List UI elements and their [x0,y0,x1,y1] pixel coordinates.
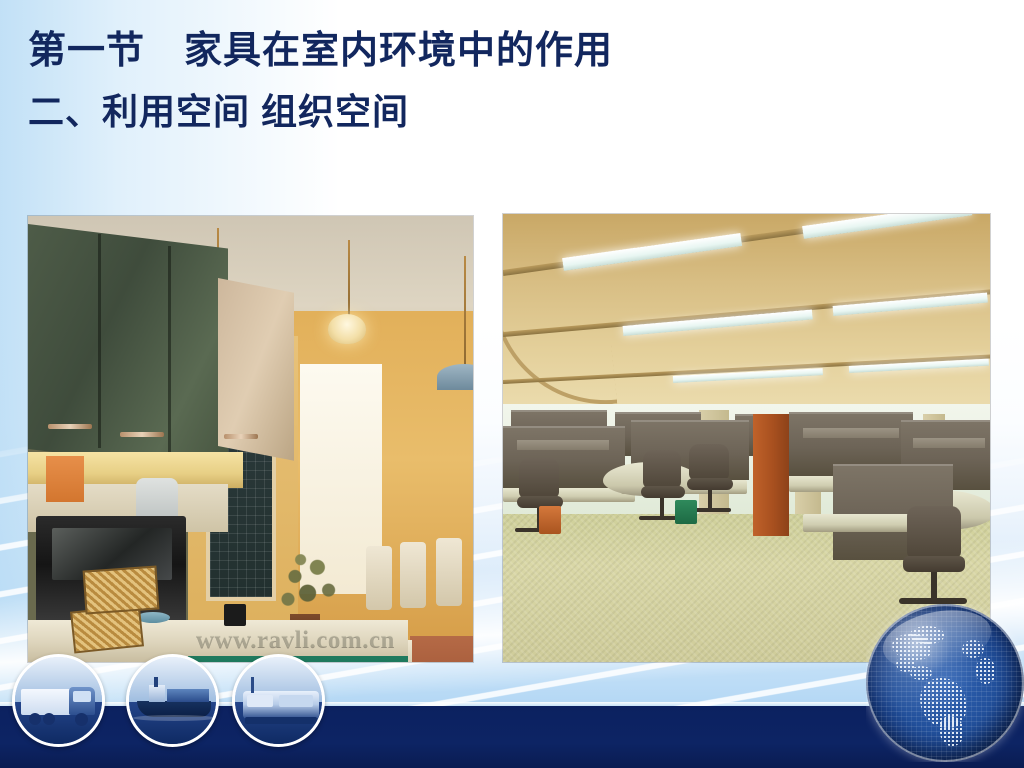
train-pantograph [251,677,254,693]
cubicle-shelf-2 [803,428,899,438]
cabinet-seam-1 [98,234,101,448]
ship-icon [126,654,219,747]
green-waste-bin [675,500,697,524]
orange-jar [46,456,84,502]
pendant-chain-2 [348,240,350,316]
train-icon [232,654,325,747]
truck-windshield [73,691,91,702]
truck-wheel-1 [29,713,41,725]
dining-chair-2 [400,542,426,608]
pendant-lamp-2 [328,314,366,344]
photo-watermark: www.ravli.com.cn [196,626,466,654]
dining-chair-1 [366,546,392,610]
cabinet-handle-2 [120,432,164,437]
dining-chair-3 [436,538,462,606]
office-chair-seat-3 [687,478,733,490]
open-plan-office-cubicles-photo [503,214,990,662]
kitchen-dining-interior-photo: www.ravli.com.cn [28,216,473,662]
cubicle-shelf-3 [913,438,985,448]
dried-plant-arrangement [274,546,344,622]
cabinet-handle-3 [224,434,258,439]
ship-mast [154,677,158,687]
train-undercarriage [245,717,317,724]
cabinet-handle-1 [48,424,92,429]
office-chair-post-2 [660,498,664,518]
office-chair-seat-2 [641,486,685,498]
cubicle-shelf-1 [517,440,609,450]
pendant-chain-3 [464,256,466,366]
ship-bridge [149,685,165,702]
train-window-2 [279,695,313,707]
office-chair-post-4 [931,572,937,600]
title-block: 第一节 家具在室内环境中的作用 二、利用空间 组织空间 [28,28,928,134]
ship-wake [133,715,215,721]
office-chair-seat-4 [903,556,965,572]
black-mug [224,604,246,626]
cabinet-seam-2 [168,246,171,452]
truck-icon [12,654,105,747]
globe-rim [866,604,1024,762]
woven-trivet-2 [83,565,160,614]
office-chair-back-2 [643,450,681,488]
presentation-slide: 第一节 家具在室内环境中的作用 二、利用空间 组织空间 [0,0,1024,768]
train-window-1 [247,695,273,707]
ship-containers [167,689,209,702]
orange-box [539,506,561,534]
orange-divider-panel [753,414,789,536]
office-chair-back-1 [519,458,559,498]
office-chair-back-4 [907,506,961,558]
pendant-lamp-3 [437,364,473,390]
slide-title-main: 第一节 家具在室内环境中的作用 [28,28,928,74]
truck-trailer [21,689,73,715]
office-chair-back-3 [689,444,729,480]
globe-icon [866,604,1024,762]
truck-wheel-3 [75,713,88,726]
office-chair-post-3 [708,490,712,510]
slide-title-sub: 二、利用空间 组织空间 [28,90,928,134]
truck-wheel-2 [43,713,55,725]
